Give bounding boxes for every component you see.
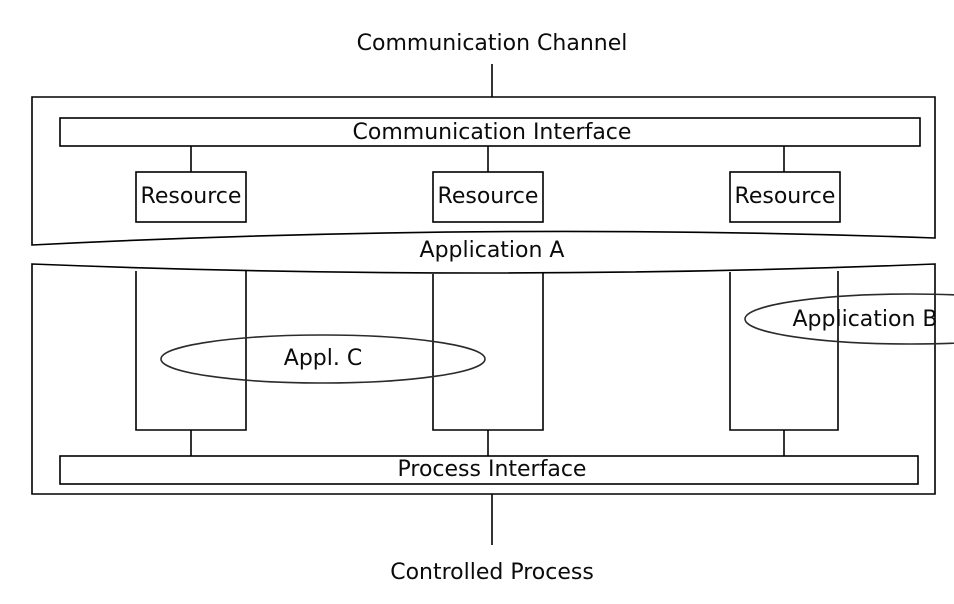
resource-label-3: Resource [735, 184, 836, 209]
diagram-canvas: Communication Channel Communication Inte… [0, 0, 954, 604]
communication-interface-label: Communication Interface [353, 120, 632, 145]
process-column-3 [730, 271, 838, 430]
resource-label-1: Resource [141, 184, 242, 209]
controlled-process-label: Controlled Process [390, 560, 594, 585]
appl-c-label: Appl. C [284, 346, 362, 371]
application-a-label: Application A [420, 238, 565, 263]
application-b-label: Application B [792, 307, 937, 332]
process-column-2 [433, 273, 543, 430]
process-interface-label: Process Interface [398, 457, 587, 482]
resource-label-2: Resource [438, 184, 539, 209]
process-column-1 [136, 270, 246, 430]
architecture-diagram: Communication Channel Communication Inte… [0, 0, 954, 604]
communication-channel-label: Communication Channel [357, 31, 628, 56]
